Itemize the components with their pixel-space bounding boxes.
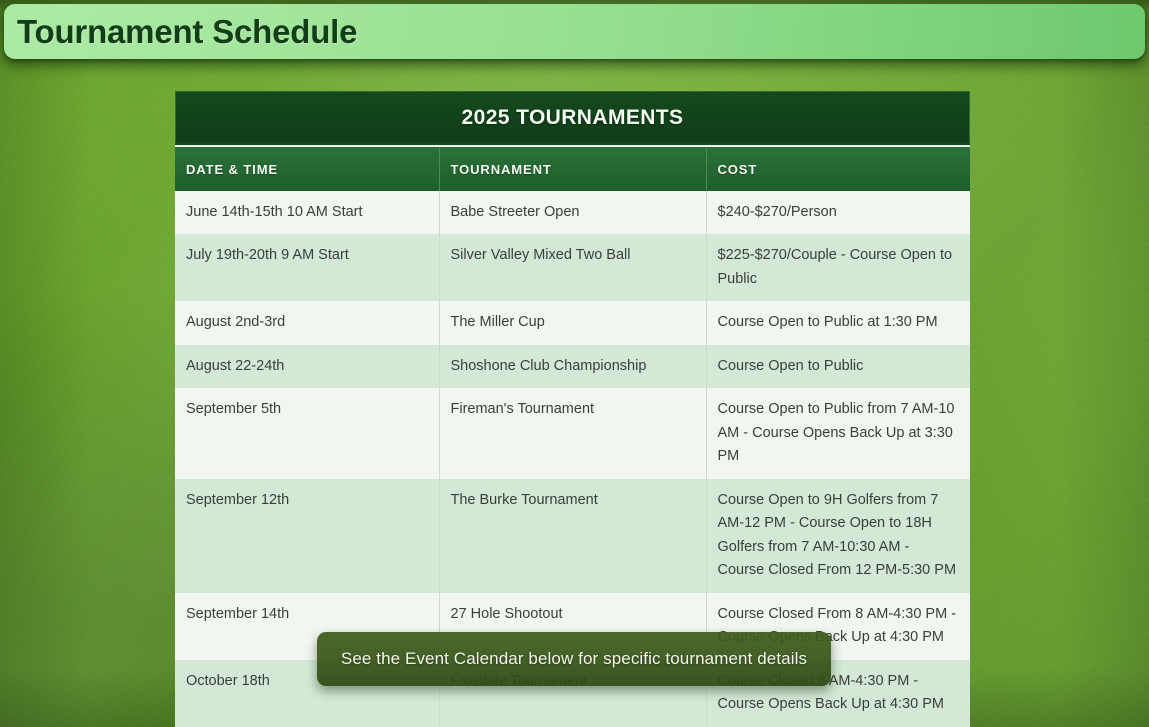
- cell-tournament: Silver Valley Mixed Two Ball: [439, 234, 706, 301]
- column-header-tournament: TOURNAMENT: [439, 147, 706, 191]
- cell-tournament: Shoshone Club Championship: [439, 345, 706, 388]
- cell-date-time: June 14th-15th 10 AM Start: [175, 191, 439, 234]
- table-row: July 19th-20th 9 AM Start Silver Valley …: [175, 234, 970, 301]
- table-row: August 22-24th Shoshone Club Championshi…: [175, 345, 970, 388]
- cell-tournament: Babe Streeter Open: [439, 191, 706, 234]
- column-header-date-time: DATE & TIME: [175, 147, 439, 191]
- table-row: September 5th Fireman's Tournament Cours…: [175, 388, 970, 478]
- event-calendar-note-text: See the Event Calendar below for specifi…: [341, 649, 807, 669]
- table-banner: 2025 TOURNAMENTS: [175, 91, 970, 143]
- page-title-bar: Tournament Schedule: [4, 4, 1145, 59]
- cell-cost: Course Open to Public at 1:30 PM: [706, 301, 970, 344]
- cell-date-time: September 5th: [175, 388, 439, 478]
- table-row: September 12th The Burke Tournament Cour…: [175, 479, 970, 593]
- cell-cost: $225-$270/Couple - Course Open to Public: [706, 234, 970, 301]
- cell-date-time: August 2nd-3rd: [175, 301, 439, 344]
- table-header: DATE & TIME TOURNAMENT COST: [175, 147, 970, 191]
- event-calendar-note-banner: See the Event Calendar below for specifi…: [317, 632, 831, 686]
- cell-date-time: September 12th: [175, 479, 439, 593]
- cell-date-time: July 19th-20th 9 AM Start: [175, 234, 439, 301]
- cell-cost: Course Open to Public: [706, 345, 970, 388]
- cell-tournament: The Burke Tournament: [439, 479, 706, 593]
- table-banner-title: 2025 TOURNAMENTS: [462, 106, 684, 130]
- table-row: June 14th-15th 10 AM Start Babe Streeter…: [175, 191, 970, 234]
- cell-cost: Course Open to Public from 7 AM-10 AM - …: [706, 388, 970, 478]
- cell-cost: $240-$270/Person: [706, 191, 970, 234]
- column-header-cost: COST: [706, 147, 970, 191]
- cell-date-time: August 22-24th: [175, 345, 439, 388]
- page-title: Tournament Schedule: [4, 13, 357, 51]
- table-row: August 2nd-3rd The Miller Cup Course Ope…: [175, 301, 970, 344]
- cell-tournament: Fireman's Tournament: [439, 388, 706, 478]
- cell-cost: Course Open to 9H Golfers from 7 AM-12 P…: [706, 479, 970, 593]
- table-header-row: DATE & TIME TOURNAMENT COST: [175, 147, 970, 191]
- cell-tournament: The Miller Cup: [439, 301, 706, 344]
